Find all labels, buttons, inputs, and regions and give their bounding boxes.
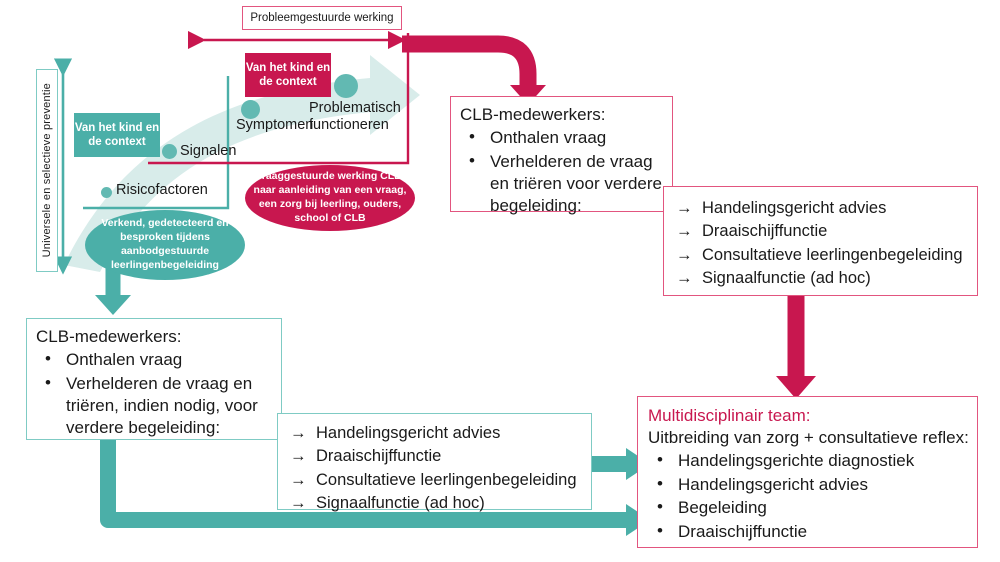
dot-signalen: [162, 144, 177, 159]
chip-pink-line1: Van het kind en: [246, 62, 330, 74]
box-actions-top: Handelingsgericht advies Draaischijffunc…: [663, 186, 978, 296]
actions-top-item: Handelingsgericht advies: [676, 197, 969, 220]
box-clb-bottom: CLB-medewerkers: Onthalen vraag Verhelde…: [26, 318, 282, 440]
clb-bottom-item: Verhelderen de vraag en triëren, indien …: [36, 373, 273, 440]
mdt-subtitle: Uitbreiding van zorg + consultatieve ref…: [648, 427, 969, 449]
clb-top-item: Verhelderen de vraag en triëren voor ver…: [460, 151, 664, 218]
dot-problematisch-functioneren: [334, 74, 358, 98]
actions-top-list: Handelingsgericht advies Draaischijffunc…: [676, 197, 969, 291]
chip-pink-line2: de context: [259, 76, 317, 88]
clb-top-list: Onthalen vraag Verhelderen de vraag en t…: [460, 127, 664, 218]
ellipse-aanbodgestuurd-text: Verkend, gedetecteerd en besproken tijde…: [85, 217, 245, 273]
clb-bottom-list: Onthalen vraag Verhelderen de vraag en t…: [36, 349, 273, 440]
actions-top-item: Draaischijffunctie: [676, 220, 969, 243]
actions-bottom-item: Draaischijffunctie: [290, 445, 583, 468]
actions-top-item: Consultatieve leerlingenbegeleiding: [676, 244, 969, 267]
arrowhead-teal-to-clb-bottom: [95, 295, 131, 315]
clb-top-title: CLB-medewerkers:: [460, 104, 664, 126]
mdt-item: Handelingsgericht advies: [648, 474, 969, 496]
mdt-item: Handelingsgerichte diagnostiek: [648, 450, 969, 472]
actions-bottom-item: Handelingsgericht advies: [290, 422, 583, 445]
clb-bottom-item: Onthalen vraag: [36, 349, 273, 371]
clb-bottom-title: CLB-medewerkers:: [36, 326, 273, 348]
mdt-item: Draaischijffunctie: [648, 521, 969, 543]
vertical-axis-label: Universele en selectieve preventie: [41, 83, 53, 257]
label-problematisch-functioneren: Problematisch functioneren: [309, 100, 405, 134]
banner-probleemgestuurde-werking: Probleemgestuurde werking: [242, 6, 402, 30]
arrow-crimson-to-clb-top: [402, 44, 528, 86]
ellipse-vraaggestuurd-text: Vraaggestuurde werking CLB, naar aanleid…: [245, 170, 415, 226]
banner-label: Probleemgestuurde werking: [250, 12, 393, 24]
actions-top-item: Signaalfunctie (ad hoc): [676, 267, 969, 290]
chip-kind-context-teal: Van het kind en de context: [74, 113, 160, 157]
actions-bottom-item: Signaalfunctie (ad hoc): [290, 492, 583, 515]
vertical-axis-caption: Universele en selectieve preventie: [36, 69, 58, 272]
actions-bottom-list: Handelingsgericht advies Draaischijffunc…: [290, 422, 583, 516]
label-risicofactoren: Risicofactoren: [116, 182, 208, 199]
label-symptomen: Symptomen: [236, 117, 313, 134]
ellipse-vraaggestuurd: Vraaggestuurde werking CLB, naar aanleid…: [245, 165, 415, 231]
mdt-list: Handelingsgerichte diagnostiek Handeling…: [648, 450, 969, 543]
label-signalen: Signalen: [180, 143, 236, 160]
mdt-item: Begeleiding: [648, 497, 969, 519]
chip-teal-line1: Van het kind en: [75, 122, 159, 134]
box-clb-top: CLB-medewerkers: Onthalen vraag Verhelde…: [450, 96, 673, 212]
dot-risicofactoren: [101, 187, 112, 198]
box-actions-bottom: Handelingsgericht advies Draaischijffunc…: [277, 413, 592, 510]
diagram-canvas: Probleemgestuurde werking Universele en …: [0, 0, 1000, 562]
ellipse-aanbodgestuurd: Verkend, gedetecteerd en besproken tijde…: [85, 210, 245, 280]
clb-top-item: Onthalen vraag: [460, 127, 664, 149]
chip-teal-line2: de context: [88, 136, 146, 148]
actions-bottom-item: Consultatieve leerlingenbegeleiding: [290, 469, 583, 492]
mdt-title: Multidisciplinair team:: [648, 405, 969, 427]
box-multidisciplinair-team: Multidisciplinair team: Uitbreiding van …: [637, 396, 978, 548]
chip-kind-context-pink: Van het kind en de context: [245, 53, 331, 97]
